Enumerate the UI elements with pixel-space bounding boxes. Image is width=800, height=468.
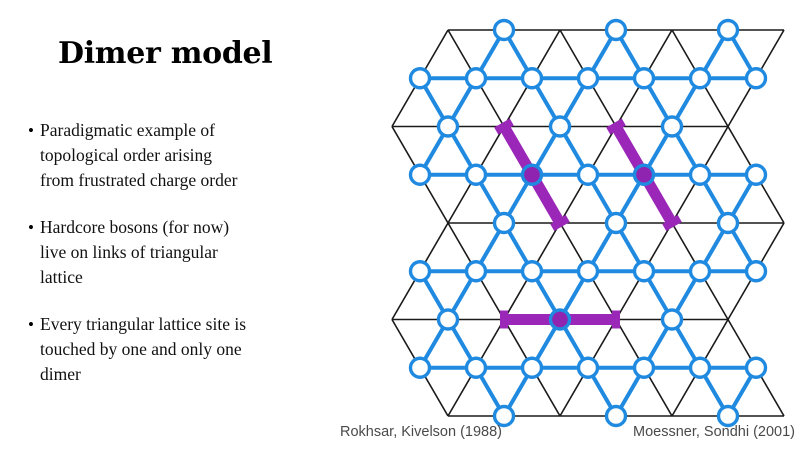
empty-boson-site [411,358,430,377]
empty-boson-site [495,214,514,233]
empty-boson-site [691,358,710,377]
empty-boson-site [607,21,626,40]
bullet-text: Paradigmatic example of topological orde… [40,118,362,193]
empty-boson-site [663,310,682,329]
empty-boson-site [411,262,430,281]
bullet-text: Hardcore bosons (for now) live on links … [40,215,362,290]
slide-canvas: Dimer model • Paradigmatic example of to… [0,0,800,468]
empty-boson-site [411,69,430,88]
empty-boson-site [635,358,654,377]
empty-boson-site [635,69,654,88]
empty-boson-site [579,69,598,88]
empty-boson-site [523,358,542,377]
list-item: • Paradigmatic example of topological or… [22,118,362,193]
page-title: Dimer model [58,36,378,71]
occupied-boson-site [523,165,542,184]
occupied-boson-site [551,310,570,329]
empty-boson-site [439,117,458,136]
empty-boson-site [579,165,598,184]
bullet-marker-icon: • [22,312,40,337]
empty-boson-site [439,310,458,329]
empty-boson-site [467,262,486,281]
empty-boson-site [411,165,430,184]
lattice-diagram [380,18,792,428]
empty-boson-site [467,165,486,184]
empty-boson-site [747,165,766,184]
empty-boson-site [719,214,738,233]
empty-boson-site [663,117,682,136]
empty-boson-site [551,117,570,136]
list-item: • Hardcore bosons (for now) live on link… [22,215,362,290]
dimer-layer [496,122,680,329]
empty-boson-site [579,262,598,281]
empty-boson-site [719,21,738,40]
citation-left: Rokhsar, Kivelson (1988) [340,424,502,440]
empty-boson-site [579,358,598,377]
list-item: • Every triangular lattice site is touch… [22,312,362,387]
empty-boson-site [747,69,766,88]
empty-boson-site [495,21,514,40]
empty-boson-site [691,165,710,184]
empty-boson-site [719,407,738,426]
empty-boson-site [467,358,486,377]
bullet-text: Every triangular lattice site is touched… [40,312,362,387]
empty-boson-site [607,214,626,233]
bullet-marker-icon: • [22,215,40,240]
occupied-boson-site [635,165,654,184]
bullet-list: • Paradigmatic example of topological or… [22,118,362,409]
empty-boson-site [607,407,626,426]
empty-boson-site [691,69,710,88]
citation-right: Moessner, Sondhi (2001) [633,424,795,440]
empty-boson-site [691,262,710,281]
empty-boson-site [635,262,654,281]
dimer-model-figure [380,18,792,428]
empty-boson-site [495,407,514,426]
empty-boson-site [747,262,766,281]
empty-boson-site [747,358,766,377]
citation-row: Rokhsar, Kivelson (1988) Moessner, Sondh… [340,424,795,440]
empty-boson-site [523,69,542,88]
empty-boson-site [523,262,542,281]
bullet-marker-icon: • [22,118,40,143]
empty-boson-site [467,69,486,88]
